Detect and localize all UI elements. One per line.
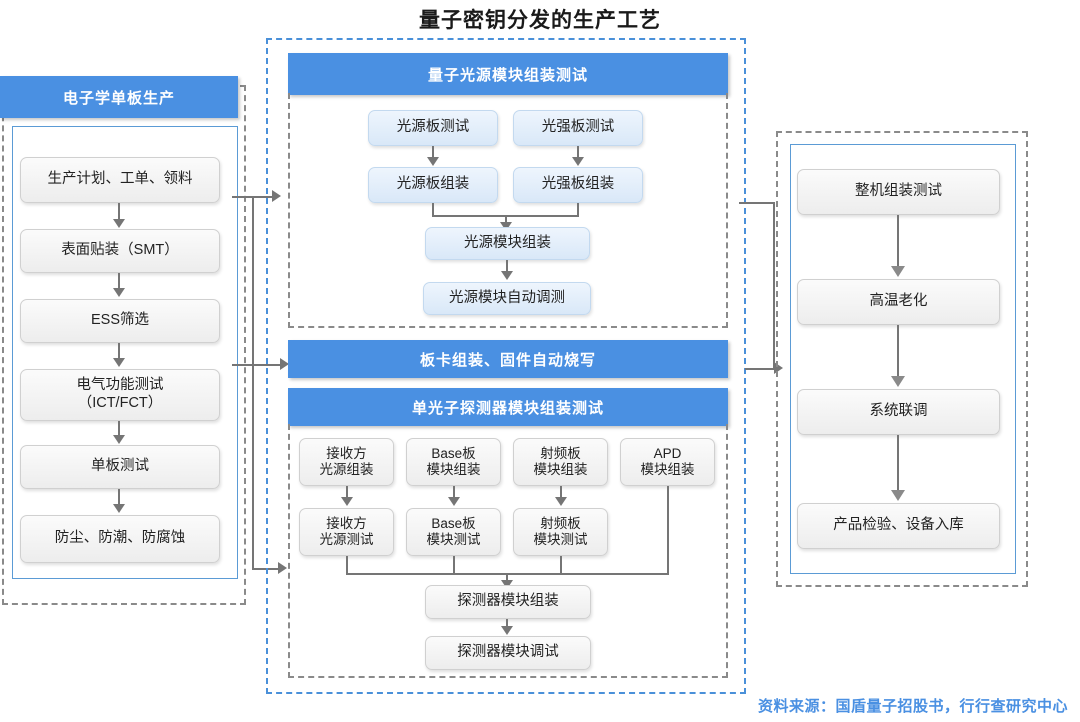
right-step-0[interactable]: 整机组装测试 [797,169,1000,215]
light-source-row1-0-label: 光源板测试 [397,119,470,137]
left-arrow-4 [113,504,125,513]
detector-test-2-line2: 模块测试 [534,532,588,548]
detector-assembly-1-line2: 模块组装 [427,462,481,478]
light-source-row1-0[interactable]: 光源板测试 [368,110,498,146]
left-arrow-2 [113,358,125,367]
detector-test-2[interactable]: 射频板 模块测试 [513,508,608,556]
light-source-module-arrow [501,271,513,280]
light-source-row2-0[interactable]: 光源板组装 [368,167,498,203]
detector-module-assembly-label: 探测器模块组装 [457,593,559,611]
detector-assembly-2-line2: 模块组装 [534,462,588,478]
left-step-3[interactable]: 电气功能测试 （ICT/FCT） [20,369,220,421]
detector-test-0-line1: 接收方 [326,516,367,532]
left-arrow-3 [113,435,125,444]
right-connector-1 [897,325,899,379]
left-step-2-label: ESS筛选 [91,312,149,330]
left-step-1-label: 表面贴装（SMT） [61,242,179,260]
right-step-2[interactable]: 系统联调 [797,389,1000,435]
detector-assembly-2-line1: 射频板 [540,446,581,462]
right-step-3[interactable]: 产品检验、设备入库 [797,503,1000,549]
detector-assembly-0[interactable]: 接收方 光源组装 [299,438,394,486]
light-source-auto-debug[interactable]: 光源模块自动调测 [423,282,591,315]
detector-assembly-1-line1: Base板 [431,446,475,462]
left-arrow-0 [113,219,125,228]
left-step-3-label-line2: （ICT/FCT） [78,395,163,413]
right-step-1-label: 高温老化 [870,293,928,311]
detector-arrow-1 [448,497,460,506]
left-step-2[interactable]: ESS筛选 [20,299,220,343]
left-step-0[interactable]: 生产计划、工单、领料 [20,157,220,203]
light-source-arrow-left [427,157,439,166]
firmware-bar-label: 板卡组装、固件自动烧写 [420,349,596,370]
right-connector-0 [897,215,899,269]
detector-test-0-line2: 光源测试 [320,532,374,548]
detector-assembly-1[interactable]: Base板 模块组装 [406,438,501,486]
page-title: 量子密钥分发的生产工艺 [0,4,1080,34]
left-step-5[interactable]: 防尘、防潮、防腐蚀 [20,515,220,563]
light-source-row2-0-label: 光源板组装 [397,176,470,194]
left-step-5-label: 防尘、防潮、防腐蚀 [55,530,186,548]
detector-assembly-0-line2: 光源组装 [320,462,374,478]
source-note: 资料来源：国盾量子招股书，行行查研究中心 [758,695,1068,716]
right-connector-2 [897,435,899,493]
right-step-3-label: 产品检验、设备入库 [833,517,964,535]
left-step-1[interactable]: 表面贴装（SMT） [20,229,220,273]
detector-test-0[interactable]: 接收方 光源测试 [299,508,394,556]
right-step-1[interactable]: 高温老化 [797,279,1000,325]
left-panel-header-label: 电子学单板生产 [63,87,175,108]
light-source-module-assembly-label: 光源模块组装 [464,235,551,253]
left-arrow-1 [113,288,125,297]
detector-arrow-0 [341,497,353,506]
apd-bypass-line [667,486,669,575]
firmware-bar: 板卡组装、固件自动烧写 [288,340,728,378]
right-arrow-2 [891,490,905,501]
light-source-auto-debug-label: 光源模块自动调测 [449,290,565,308]
detector-module-assembly[interactable]: 探测器模块组装 [425,585,591,619]
light-source-row2-1-label: 光强板组装 [542,176,615,194]
light-source-row1-1-label: 光强板测试 [542,119,615,137]
detector-assembly-3-line1: APD [654,446,682,462]
light-source-module-assembly[interactable]: 光源模块组装 [425,227,590,260]
detector-test-1-line2: 模块测试 [427,532,481,548]
middle-to-right-branch-top [739,202,775,204]
middle-to-right-branch-bottom [745,368,777,370]
right-arrow-0 [891,266,905,277]
middle-to-right-trunk [773,202,775,368]
right-step-0-label: 整机组装测试 [855,183,942,201]
light-source-arrow-right [572,157,584,166]
detector-module-debug[interactable]: 探测器模块调试 [425,636,591,670]
detector-test-1[interactable]: Base板 模块测试 [406,508,501,556]
left-to-middle-trunk [252,196,254,570]
detector-module-arrow [501,626,513,635]
detector-header-label: 单光子探测器模块组装测试 [412,397,604,418]
left-step-4[interactable]: 单板测试 [20,445,220,489]
left-step-4-label: 单板测试 [91,458,149,476]
right-step-2-label: 系统联调 [870,403,928,421]
detector-assembly-2[interactable]: 射频板 模块组装 [513,438,608,486]
light-source-header: 量子光源模块组装测试 [288,53,728,95]
detector-assembly-3[interactable]: APD 模块组装 [620,438,715,486]
right-arrow-1 [891,376,905,387]
left-panel-header: 电子学单板生产 [0,76,238,118]
light-source-header-label: 量子光源模块组装测试 [428,64,588,85]
left-step-0-label: 生产计划、工单、领料 [48,171,193,189]
light-source-row2-1[interactable]: 光强板组装 [513,167,643,203]
detector-assembly-0-line1: 接收方 [326,446,367,462]
detector-test-2-line1: 射频板 [540,516,581,532]
detector-test-1-line1: Base板 [431,516,475,532]
detector-header: 单光子探测器模块组装测试 [288,388,728,426]
light-source-row1-1[interactable]: 光强板测试 [513,110,643,146]
detector-arrow-2 [555,497,567,506]
detector-assembly-3-line2: 模块组装 [641,462,695,478]
left-step-3-label-line1: 电气功能测试 [77,377,164,395]
detector-module-debug-label: 探测器模块调试 [457,644,559,662]
